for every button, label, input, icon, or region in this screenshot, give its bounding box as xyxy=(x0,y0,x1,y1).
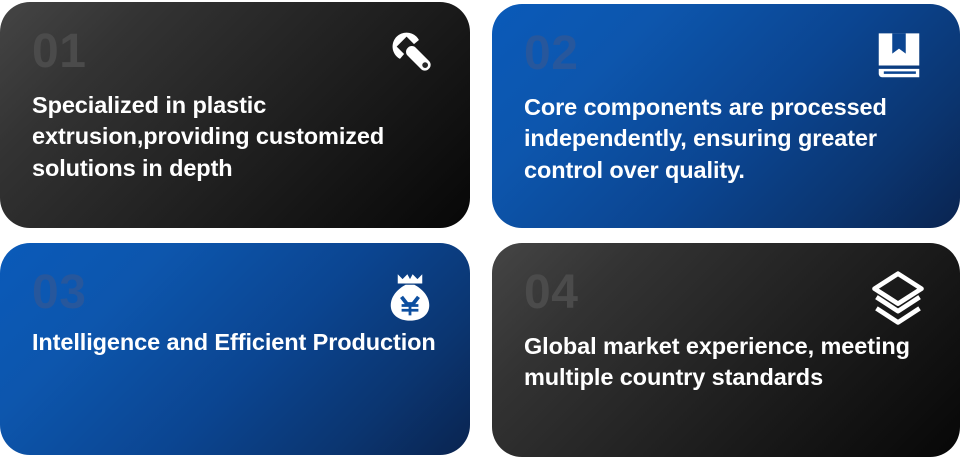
card-number: 01 xyxy=(32,28,440,76)
card-header: 02 xyxy=(524,30,930,92)
feature-card-02[interactable]: 02 Core components are processed indepen… xyxy=(492,4,960,228)
card-number: 02 xyxy=(524,30,930,78)
feature-card-01[interactable]: 01 Specialized in plastic extrusion,prov… xyxy=(0,2,470,228)
feature-card-04[interactable]: 04 Global market experience, meeting mul… xyxy=(492,243,960,457)
feature-card-grid: 01 Specialized in plastic extrusion,prov… xyxy=(0,0,960,459)
book-bookmark-icon xyxy=(872,30,926,84)
wrench-icon xyxy=(386,26,442,82)
card-number: 03 xyxy=(32,269,440,317)
card-title: Global market experience, meeting multip… xyxy=(524,331,930,394)
card-header: 01 xyxy=(32,28,440,90)
card-header: 03 xyxy=(32,269,440,331)
card-title: Intelligence and Efficient Production xyxy=(32,327,440,358)
layers-stack-icon xyxy=(868,269,928,329)
card-title: Core components are processed independen… xyxy=(524,92,930,186)
card-title: Specialized in plastic extrusion,providi… xyxy=(32,90,440,184)
money-bag-yen-icon xyxy=(382,269,438,325)
card-header: 04 xyxy=(524,269,930,331)
feature-card-03[interactable]: 03 Intelligence and Efficient Production xyxy=(0,243,470,455)
